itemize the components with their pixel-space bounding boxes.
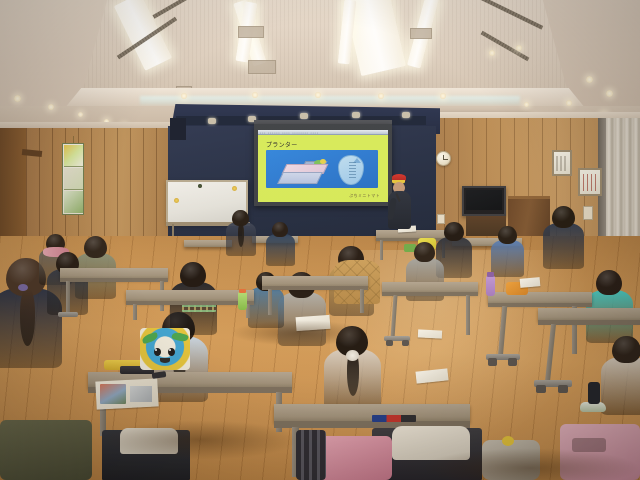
recessed-downlight <box>606 90 613 97</box>
person-torso <box>266 234 295 266</box>
table-leg <box>380 240 383 260</box>
character-eye <box>168 348 175 356</box>
desk-edge <box>126 301 254 305</box>
stage-spotlight <box>402 112 410 118</box>
light-switch-plate[interactable] <box>583 206 593 220</box>
papers-on-desk <box>520 277 541 288</box>
flat-screen-monitor <box>462 186 506 216</box>
floor-shadow <box>100 420 300 460</box>
person-head <box>612 336 640 363</box>
striped-bag <box>296 430 326 480</box>
pink-backpack <box>318 436 392 480</box>
recessed-downlight <box>566 100 572 106</box>
person-head <box>498 226 517 244</box>
desk-name-tag-strip <box>372 415 416 422</box>
wall-poster[interactable] <box>62 143 84 215</box>
magnet-icon <box>232 186 237 191</box>
recessed-downlight <box>378 93 384 99</box>
magnet-icon <box>174 198 179 203</box>
bottle-cap <box>487 272 494 277</box>
ceiling-access-panel <box>248 60 276 74</box>
leaf-icon <box>141 332 159 345</box>
person-head <box>444 222 464 241</box>
light-switch-plate[interactable] <box>437 214 445 224</box>
notice-text-lines <box>583 174 597 191</box>
slide-title-text: プランター <box>266 140 298 149</box>
recessed-downlight <box>440 93 446 99</box>
person-torso <box>491 240 524 277</box>
desk-caster <box>402 340 409 346</box>
water-bottle <box>486 276 495 296</box>
stage-spotlight <box>352 112 360 118</box>
recessed-downlight <box>586 76 593 83</box>
character-eye <box>154 348 161 356</box>
floor-shadow <box>420 448 640 480</box>
desk-leg <box>268 289 272 315</box>
stage-spotlight <box>300 113 308 119</box>
magnet-icon <box>198 184 202 188</box>
desk-back-row <box>184 240 232 247</box>
olive-bag-foreground <box>0 420 92 480</box>
recessed-downlight <box>315 92 321 98</box>
booklet-photos <box>100 384 126 404</box>
table-edge <box>376 238 448 241</box>
recessed-downlight <box>524 102 529 107</box>
person-ponytail <box>20 289 35 346</box>
slide-app-toolbar: ▫▫▫ ▫▫▫▫▫▫ ▫▫▫▫ ▫▫▫▫▫▫▫▫ ▫▫▫▫ <box>258 130 388 135</box>
recessed-downlight <box>489 50 495 56</box>
desk-caster <box>488 358 497 366</box>
hair-scrunchie <box>346 350 359 361</box>
person-head <box>414 242 435 262</box>
recessed-downlight <box>48 104 54 110</box>
recessed-downlight <box>78 112 83 117</box>
recessed-downlight <box>14 95 21 102</box>
desk-leg <box>360 289 364 313</box>
projector-mount <box>170 118 186 140</box>
desk-caster <box>536 385 546 393</box>
character-mouth <box>160 358 170 363</box>
leaf-icon <box>171 331 189 344</box>
floor-shadow <box>230 320 370 346</box>
desk-caster <box>508 358 517 366</box>
booklet-photos <box>130 386 152 402</box>
monitor-screen <box>466 190 502 210</box>
character-backpack <box>140 328 190 370</box>
ceiling-access-panel <box>238 26 264 38</box>
person-head <box>84 236 107 258</box>
person-torso <box>543 223 584 269</box>
presentation-slide: ▫▫▫ ▫▫▫▫▫▫ ▫▫▫▫ ▫▫▫▫▫▫▫▫ ▫▫▫▫ プランター ぷちミニ… <box>258 130 388 202</box>
desk-caster <box>558 385 568 393</box>
person-head <box>596 270 622 295</box>
wall-clock <box>436 151 451 166</box>
speech-bubble-illustration <box>338 155 364 185</box>
notice-text-lines <box>556 156 567 171</box>
bottle-cap <box>239 289 246 293</box>
planter-box-illustration <box>284 164 328 184</box>
recessed-downlight <box>181 93 187 99</box>
framed-notice <box>552 150 572 176</box>
desk-edge <box>262 286 368 290</box>
photo-scene: ▫▫▫ ▫▫▫▫▫▫ ▫▫▫▫ ▫▫▫▫▫▫▫▫ ▫▫▫▫ プランター ぷちミニ… <box>0 0 640 480</box>
person-head <box>552 206 575 228</box>
slide-illustration-panel <box>266 150 378 188</box>
desk-leg <box>66 281 70 315</box>
child-leg <box>588 382 600 404</box>
desk-foot <box>58 312 78 317</box>
drink-bottle <box>238 292 247 310</box>
framed-notice <box>578 168 602 196</box>
person-torso <box>601 357 640 415</box>
hat-pompom <box>502 436 514 446</box>
stage-spotlight <box>208 118 216 124</box>
person-ponytail <box>238 223 244 247</box>
slide-caption-text: ぷちミニトマト <box>349 193 380 199</box>
recessed-downlight <box>516 45 522 51</box>
bubble-text-lines <box>349 162 356 180</box>
ceiling-access-panel <box>410 28 432 39</box>
desk-caster <box>386 340 393 346</box>
person-head <box>180 262 206 287</box>
desk-leg <box>466 295 470 335</box>
slide-toolbar-items: ▫▫▫ ▫▫▫▫▫▫ ▫▫▫▫ ▫▫▫▫▫▫▫▫ ▫▫▫▫ <box>260 131 386 135</box>
person-head <box>272 222 288 237</box>
planter-body <box>277 172 323 184</box>
cove-light-glow <box>140 96 520 105</box>
desk-leg <box>133 304 137 320</box>
recessed-downlight <box>252 92 258 98</box>
hair-tie <box>18 284 28 291</box>
desk-edge <box>60 278 168 282</box>
papers-on-desk <box>418 329 442 338</box>
